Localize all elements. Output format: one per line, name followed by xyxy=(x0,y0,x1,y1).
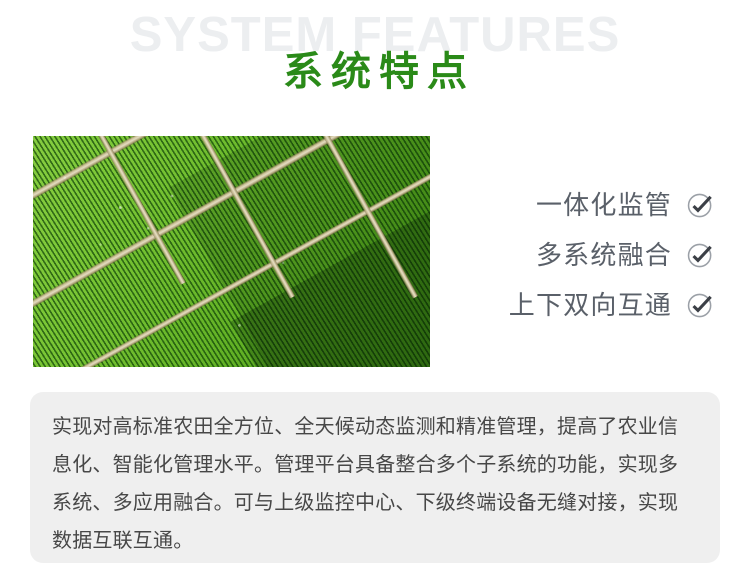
feature-list: 一体化监管 多系统融合 上下双向互通 xyxy=(440,136,750,367)
page-title: 系统特点 xyxy=(0,50,750,94)
feature-item-integrated-supervision: 一体化监管 xyxy=(440,190,750,221)
description-text: 实现对高标准农田全方位、全天候动态监测和精准管理，提高了农业信息化、智能化管理水… xyxy=(52,408,698,560)
feature-label: 多系统融合 xyxy=(536,240,672,271)
features-section: 一体化监管 多系统融合 上下双向互通 xyxy=(0,136,750,368)
feature-item-bidirectional-interconnect: 上下双向互通 xyxy=(440,290,750,321)
feature-label: 上下双向互通 xyxy=(509,290,672,321)
check-circle-icon xyxy=(686,191,715,220)
feature-item-multi-system-fusion: 多系统融合 xyxy=(440,240,750,271)
feature-label: 一体化监管 xyxy=(536,190,672,221)
photo-texture-speckle xyxy=(33,136,430,367)
description-panel: 实现对高标准农田全方位、全天候动态监测和精准管理，提高了农业信息化、智能化管理水… xyxy=(30,392,720,563)
aerial-farmland-photo xyxy=(33,136,430,367)
check-circle-icon xyxy=(686,241,715,270)
check-circle-icon xyxy=(686,291,715,320)
page-header: SYSTEM FEATURES 系统特点 xyxy=(0,0,750,120)
